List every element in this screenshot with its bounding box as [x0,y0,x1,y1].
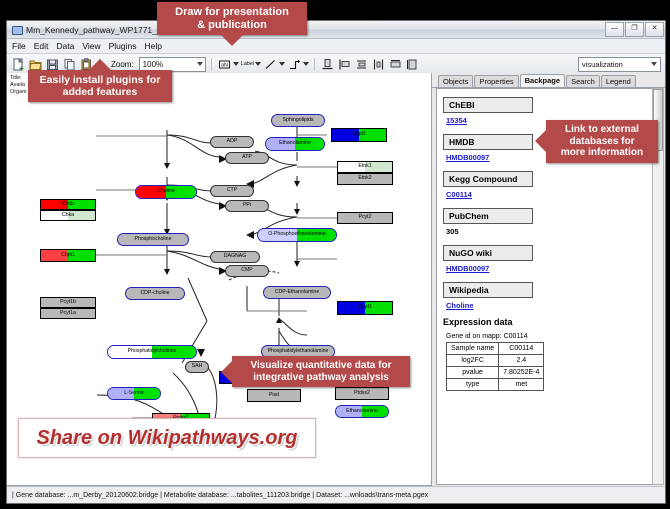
menu-view[interactable]: View [82,41,100,51]
node-chka[interactable]: Chka [40,210,96,221]
chevron-down-icon [197,62,203,66]
backpage-link-kegg[interactable]: C00114 [446,190,652,199]
node-cdp-choline[interactable]: CDP-choline [125,287,185,300]
datanode-icon: aN [217,57,232,72]
side-panel-tabs: Objects Properties Backpage Search Legen… [432,73,665,88]
node-label: Chka [62,213,74,218]
node-label: DAGNAG [224,254,246,259]
tab-legend[interactable]: Legend [601,75,636,88]
callout-links-line3: more information [561,147,643,158]
backpage-header-hmdb: HMDB [443,134,533,150]
toolbar-separator [211,58,212,71]
callout-plugins-line1: Easily install plugins for [40,74,161,86]
callout-arrow-down-icon [221,35,243,46]
zoom-label: Zoom: [111,60,134,69]
chevron-down-icon [651,62,657,66]
menu-data[interactable]: Data [56,41,74,51]
backpage-link-nugo[interactable]: HMDB00097 [446,264,652,273]
menu-plugins[interactable]: Plugins [109,41,137,51]
window-buttons: — ❐ ✕ [605,22,665,37]
callout-share-text: Share on Wikipathways.org [37,427,298,450]
node-pcyt1b[interactable]: Pcyt1b [40,297,96,308]
status-bar: | Gene database: ...m_Derby_20120602.bri… [7,486,665,503]
callout-visualize-line1: Visualize quantitative data for [251,360,392,371]
node-sphingolipids[interactable]: Sphingolipids [271,114,325,127]
title-bar: Mm_Kennedy_pathway_WP1771_45176.gpml — ❐… [7,21,665,39]
backpage-value-pubchem: 305 [446,227,652,236]
node-ptdss2[interactable]: Ptdss2 [335,387,389,400]
node-o-phosphoethanolamine[interactable]: O-Phosphoethanolamine [257,228,337,242]
node-label: Etnk2 [358,176,371,181]
node-label: Etnk1 [358,164,371,169]
node-sgpl1[interactable]: Sgpl1 [331,128,387,142]
node-label: Pcyt1a [60,311,76,316]
visualization-combobox[interactable]: visualization [578,57,661,72]
node-label: Pcyt2 [359,215,372,220]
node-label: Pcyt1b [60,300,76,305]
new-icon[interactable] [11,57,26,72]
chevron-down-icon [279,62,285,66]
table-row: pvalue 7.80252E-4 [447,367,544,379]
size-equal-icon[interactable] [388,57,403,72]
node-label: Phosphocholine [135,237,172,242]
node-label: Ethanolamine [346,409,378,414]
distribute-vertical-icon[interactable] [354,57,369,72]
callout-visualize: Visualize quantitative data for integrat… [232,356,410,387]
datanode-tool[interactable]: aN [217,57,239,72]
node-label: Chpt1 [61,253,75,258]
callout-arrow-up-icon [89,59,111,70]
maximize-button[interactable]: ❐ [625,22,644,37]
node-etnk1[interactable]: Etnk1 [337,161,393,173]
align-top-icon[interactable] [320,57,335,72]
row-value: C00114 [499,343,544,355]
screenshot-root: Mm_Kennedy_pathway_WP1771_45176.gpml — ❐… [0,0,670,509]
node-pcyt1a[interactable]: Pcyt1a [40,308,96,319]
tab-backpage[interactable]: Backpage [520,74,565,88]
node-adp[interactable]: ADP [210,136,254,148]
node-label: CDP-choline [140,291,169,296]
gene-id-line: Gene id on mapp: C00114 [446,333,652,340]
node-cept1[interactable]: Cept1 [337,301,393,315]
table-row: type met [447,379,544,391]
node-pcyt2[interactable]: Pcyt2 [337,212,393,224]
node-ethanolamine-bottom[interactable]: Ethanolamine [335,405,389,418]
callout-visualize-line2: integrative pathway analysis [253,372,389,383]
node-cdp-ethanolamine[interactable]: CDP-Ethanolamine [263,286,331,299]
tab-objects[interactable]: Objects [438,75,473,88]
menu-help[interactable]: Help [145,41,162,51]
callout-links-line2: databases for [569,136,634,147]
minimize-button[interactable]: — [605,22,624,37]
tab-search[interactable]: Search [566,75,600,88]
node-cmp[interactable]: CMP [225,265,269,277]
node-phosphatidylcholines[interactable]: Phosphatidylcholines [107,345,197,359]
callout-links: Link to external databases for more info… [546,120,658,163]
row-value: 2.4 [499,355,544,367]
node-label: Cept1 [358,305,372,310]
backpage-header-nugo: NuGO wiki [443,245,533,261]
callout-arrow-left-icon [535,130,546,152]
row-value: 7.80252E-4 [499,367,544,379]
distribute-horizontal-icon[interactable] [371,57,386,72]
node-label: Phosphatidylethanolamine [268,349,329,354]
node-chpt1[interactable]: Chpt1 [40,249,96,262]
node-label: ADP [227,139,238,144]
callout-share: Share on Wikipathways.org [18,418,316,458]
table-row: Sample name C00114 [447,343,544,355]
node-label: Phosphatidylcholines [128,349,177,354]
node-label: Chkb [62,202,74,207]
node-label: L-Serine [124,391,144,396]
node-label: O-Phosphoethanolamine [268,232,325,237]
close-button[interactable]: ✕ [645,22,664,37]
node-sah[interactable]: SAH [185,361,209,373]
menu-bar: File Edit Data View Plugins Help [7,39,665,54]
row-value: met [499,379,544,391]
callout-draw: Draw for presentation & publication [157,2,307,35]
line-icon [263,57,278,72]
app-icon [11,24,22,35]
backpage-header-kegg: Kegg Compound [443,171,533,187]
callout-plugins-line2: added features [63,86,138,98]
menu-file[interactable]: File [12,41,26,51]
size-height-icon[interactable] [405,57,420,72]
row-key: Sample name [447,343,499,355]
chevron-down-icon [303,62,309,66]
menu-edit[interactable]: Edit [34,41,49,51]
node-label: Ptdss2 [354,391,370,396]
node-label: Sphingolipids [283,118,314,123]
callout-draw-line1: Draw for presentation [175,6,289,18]
interaction-tool[interactable] [287,57,309,72]
chevron-down-icon [233,62,239,66]
node-label: Ethanolamine [279,141,311,146]
align-left-icon[interactable] [337,57,352,72]
zoom-value: 100% [143,60,163,69]
backpage-header-chebi: ChEBI [443,97,533,113]
node-chkb[interactable]: Chkb [40,199,96,210]
row-key: log2FC [447,355,499,367]
backpage-header-wikipedia: Wikipedia [443,282,533,298]
node-phosphocholine[interactable]: Phosphocholine [117,233,189,246]
node-label: CDP-Ethanolamine [275,290,319,295]
status-text: | Gene database: ...m_Derby_20120602.bri… [7,492,428,499]
node-ppi[interactable]: PPi [225,200,269,212]
expression-data-table: Sample name C00114 log2FC 2.4 pvalue 7.8… [446,342,544,391]
node-ethanolamine-top[interactable]: Ethanolamine [265,137,325,151]
row-key: type [447,379,499,391]
callout-draw-line2: & publication [197,19,267,31]
callout-arrow-left-icon [221,361,232,383]
node-label: CTP [227,188,237,193]
node-choline-top[interactable]: Choline [135,185,197,199]
tab-properties[interactable]: Properties [474,75,518,88]
expression-data-title: Expression data [443,317,652,327]
node-dagnag[interactable]: DAGNAG [210,251,260,263]
line-tool[interactable] [263,57,285,72]
visualization-value: visualization [582,60,623,69]
node-atp[interactable]: ATP [225,152,269,164]
toolbar-separator [314,58,315,71]
row-key: pvalue [447,367,499,379]
label-tool[interactable]: Label [241,61,261,67]
node-label: Choline [157,189,175,194]
backpage-link-wikipedia[interactable]: Choline [446,301,652,310]
label-icon: Label [241,61,254,67]
node-etnk2[interactable]: Etnk2 [337,173,393,185]
svg-text:aN: aN [221,62,228,68]
node-pisd[interactable]: Pisd [247,389,301,402]
table-row: log2FC 2.4 [447,355,544,367]
callout-links-line1: Link to external [565,124,639,135]
node-label: PPi [243,203,251,208]
node-label: Sgpl1 [352,132,365,137]
node-label: Pisd [269,393,279,398]
interaction-icon [287,57,302,72]
chevron-down-icon [255,62,261,66]
node-label: CMP [241,268,253,273]
node-ctp[interactable]: CTP [210,185,254,197]
backpage-header-pubchem: PubChem [443,208,533,224]
node-label: ATP [242,155,252,160]
node-label: SAH [192,364,203,369]
node-l-serine-left[interactable]: L-Serine [107,387,161,400]
callout-plugins: Easily install plugins for added feature… [28,70,172,102]
